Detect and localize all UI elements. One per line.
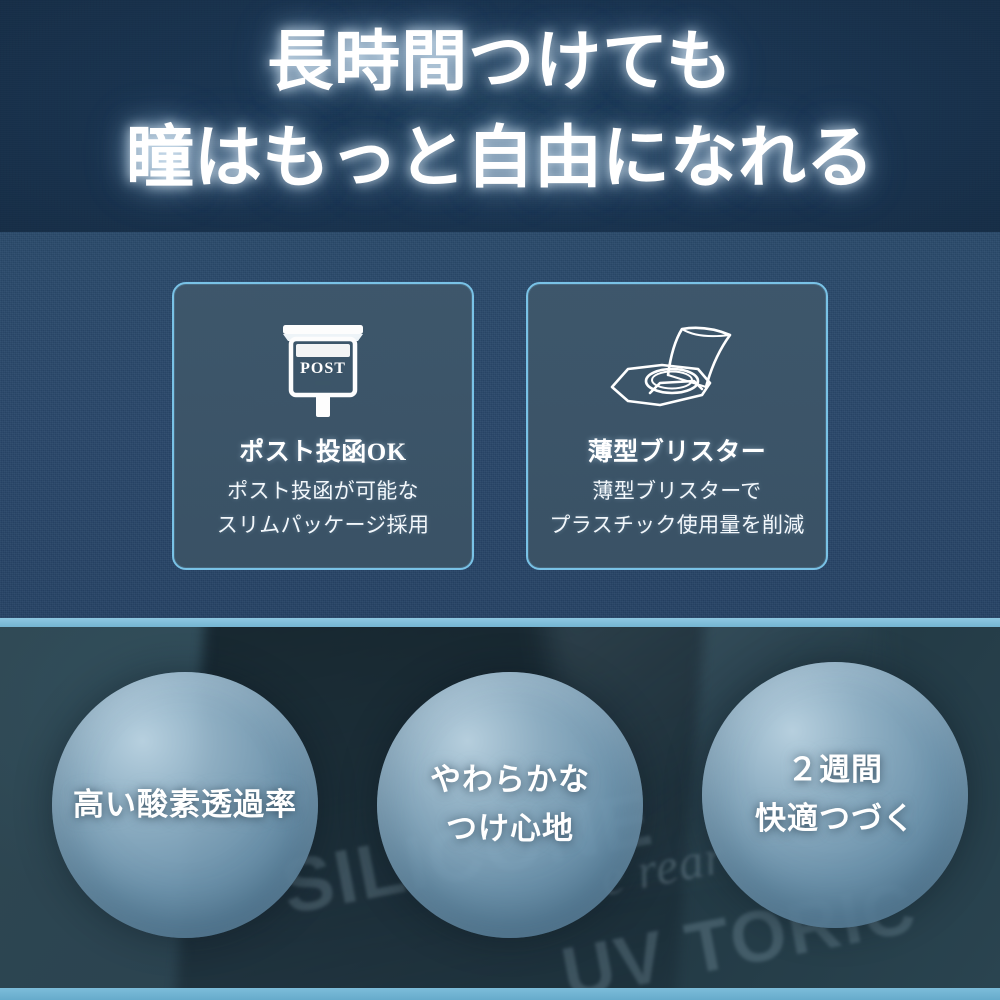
svg-text:POST: POST (300, 360, 346, 377)
benefit-label-line-2: 快適つづく (755, 795, 915, 844)
benefit-circle-oxygen[interactable]: 高い酸素透過率 (52, 672, 318, 938)
postbox-icon: POST (265, 310, 381, 428)
benefit-label-line-2: つけ心地 (430, 805, 590, 854)
features-section: POST ポスト投函OK ポスト投函が可能な スリムパッケージ採用 (0, 232, 1000, 620)
benefit-label-line-1: やわらかな (430, 756, 590, 805)
feature-card-subtitle-line-2: スリムパッケージ採用 (217, 508, 430, 542)
headline: 長時間つけても 瞳はもっと自由になれる (0, 16, 1000, 206)
benefit-circle-softness[interactable]: やわらかな つけ心地 (377, 672, 643, 938)
feature-card-blister[interactable]: 薄型ブリスター 薄型ブリスターで プラスチック使用量を削減 (526, 282, 828, 570)
feature-card-postbox[interactable]: POST ポスト投函OK ポスト投函が可能な スリムパッケージ採用 (172, 282, 474, 570)
feature-card-title: 薄型ブリスター (588, 432, 767, 468)
benefit-circle-label: やわらかな つけ心地 (430, 756, 590, 854)
benefit-circle-label: ２週間 快適つづく (755, 746, 915, 844)
feature-card-subtitle-line-1: 薄型ブリスターで (549, 474, 804, 508)
feature-card-title: ポスト投函OK (239, 432, 406, 468)
feature-card-subtitle: 薄型ブリスターで プラスチック使用量を削減 (549, 474, 804, 542)
benefit-circle-duration[interactable]: ２週間 快適つづく (702, 662, 968, 928)
headline-line-1: 長時間つけても (0, 16, 1000, 110)
benefit-label-line-1: 高い酸素透過率 (73, 781, 297, 830)
divider-bar-bottom (0, 988, 1000, 1000)
benefit-circle-label: 高い酸素透過率 (73, 781, 297, 830)
advertisement-page: 長時間つけても 瞳はもっと自由になれる (0, 0, 1000, 1000)
feature-card-subtitle: ポスト投函が可能な スリムパッケージ採用 (217, 474, 430, 542)
feature-cards-row: POST ポスト投函OK ポスト投函が可能な スリムパッケージ採用 (0, 232, 1000, 620)
blister-pack-icon (602, 310, 752, 428)
headline-line-2: 瞳はもっと自由になれる (0, 110, 1000, 207)
feature-card-subtitle-line-2: プラスチック使用量を削減 (549, 508, 804, 542)
divider-bar-top (0, 618, 1000, 627)
feature-card-subtitle-line-1: ポスト投函が可能な (217, 474, 430, 508)
headline-section: 長時間つけても 瞳はもっと自由になれる (0, 0, 1000, 232)
benefit-label-line-1: ２週間 (755, 746, 915, 795)
